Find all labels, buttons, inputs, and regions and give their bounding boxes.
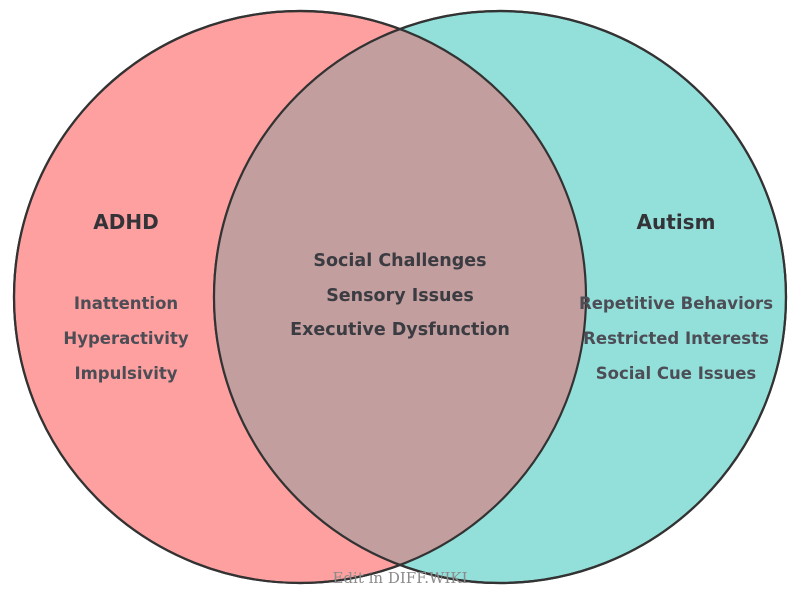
intersection-item-0: Social Challenges <box>313 251 486 271</box>
right-set-item-1: Restricted Interests <box>583 329 769 348</box>
right-set-item-0: Repetitive Behaviors <box>579 294 773 313</box>
edit-link[interactable]: Edit in DIFF.WIKI <box>332 569 467 587</box>
left-set-title: ADHD <box>93 210 158 234</box>
intersection-item-2: Executive Dysfunction <box>290 320 510 340</box>
venn-svg: ADHD Inattention Hyperactivity Impulsivi… <box>0 0 800 600</box>
venn-diagram-canvas: ADHD Inattention Hyperactivity Impulsivi… <box>0 0 800 600</box>
left-set-item-2: Impulsivity <box>74 364 177 383</box>
left-set-item-1: Hyperactivity <box>63 329 188 348</box>
left-set-item-0: Inattention <box>74 294 178 313</box>
intersection-item-1: Sensory Issues <box>326 286 474 306</box>
right-set-title: Autism <box>637 210 716 234</box>
right-set-item-2: Social Cue Issues <box>596 364 757 383</box>
